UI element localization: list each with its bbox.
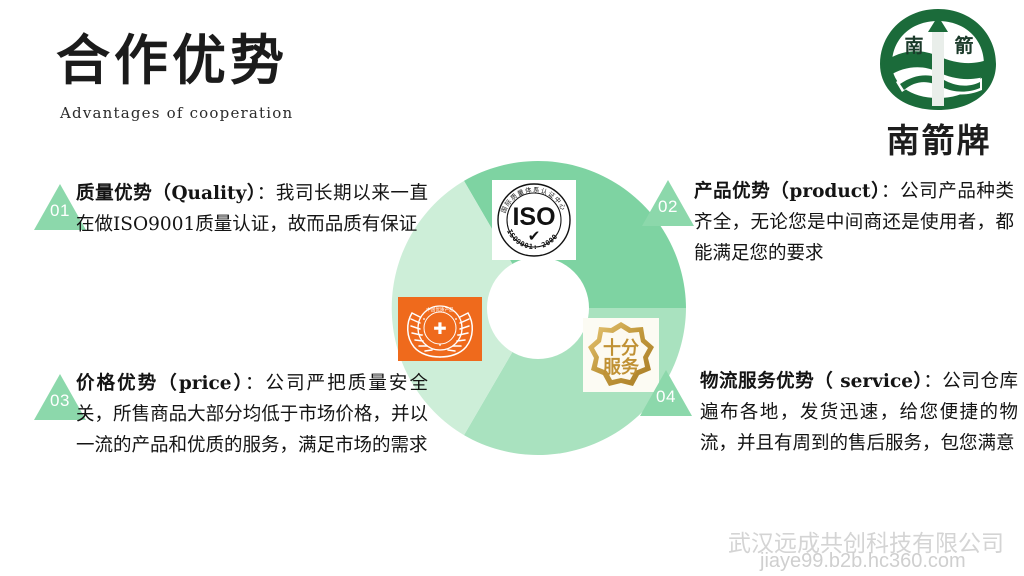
marker-triangle-02: 02 <box>640 178 696 228</box>
advantage-heading-02: 产品优势（product） <box>694 181 881 202</box>
advantage-block-03: 价格优势（price）：公司严把质量安全关，所售商品大部分均低于市场价格，并以一… <box>76 368 428 461</box>
iso-certification-badge: 国际质量体系认证中心 ISO9001: 2000 ISO ✔ <box>492 180 576 260</box>
advantage-text-01: 质量优势（Quality）：我司长期以来一直在做ISO9001质量认证，故而品质… <box>76 178 428 240</box>
seal-center-symbol: ✚ <box>433 319 446 338</box>
advantage-text-03: 价格优势（price）：公司严把质量安全关，所售商品大部分均低于市场价格，并以一… <box>76 368 428 461</box>
logo-mark-icon: 南 箭 <box>874 4 1002 116</box>
svg-text:中国优质产品: 中国优质产品 <box>426 306 454 313</box>
marker-triangle-04: 04 <box>638 368 694 418</box>
marker-number-04: 04 <box>638 387 694 407</box>
quality-seal-icon: ✚ 中国优质产品 <box>398 297 482 361</box>
advantage-heading-04: 物流服务优势（ service） <box>700 371 923 392</box>
company-logo: 南 箭 南箭牌 <box>866 4 1012 160</box>
advantage-separator-04: ： <box>923 371 942 392</box>
advantage-heading-03: 价格优势（price） <box>76 373 245 394</box>
donut-inner-hole <box>487 257 589 359</box>
advantage-separator-03: ： <box>245 373 266 394</box>
watermark-site: jiaye99.b2b.hc360.com <box>760 550 966 573</box>
quality-seal-badge: ✚ 中国优质产品 <box>398 297 482 361</box>
service-badge-line2: 服务 <box>603 356 640 378</box>
slide-canvas: 合作优势 Advantages of cooperation 南 箭 南箭牌 <box>0 0 1024 576</box>
page-title: 合作优势 <box>56 16 288 95</box>
iso-check-icon: ✔ <box>528 227 541 245</box>
advantage-text-04: 物流服务优势（ service）：公司仓库遍布各地，发货迅速，给您便捷的物流，并… <box>700 366 1018 459</box>
service-badge-line1: 十分 <box>603 337 639 359</box>
logo-brand-word: 南箭牌 <box>866 114 1012 162</box>
logo-char-right: 箭 <box>954 34 973 57</box>
iso-badge-icon: 国际质量体系认证中心 ISO9001: 2000 ISO ✔ <box>492 180 576 260</box>
advantage-block-04: 物流服务优势（ service）：公司仓库遍布各地，发货迅速，给您便捷的物流，并… <box>700 366 1018 459</box>
page-subtitle: Advantages of cooperation <box>60 104 293 122</box>
advantage-heading-01: 质量优势（Quality） <box>76 183 257 204</box>
advantage-block-02: 产品优势（product）：公司产品种类齐全，无论您是中间商还是使用者，都能满足… <box>694 176 1014 269</box>
logo-char-left: 南 <box>904 35 923 57</box>
advantage-block-01: 质量优势（Quality）：我司长期以来一直在做ISO9001质量认证，故而品质… <box>76 178 428 240</box>
marker-number-02: 02 <box>640 197 696 217</box>
advantage-separator-01: ： <box>257 183 276 204</box>
advantage-separator-02: ： <box>881 181 900 202</box>
advantage-text-02: 产品优势（product）：公司产品种类齐全，无论您是中间商还是使用者，都能满足… <box>694 176 1014 269</box>
